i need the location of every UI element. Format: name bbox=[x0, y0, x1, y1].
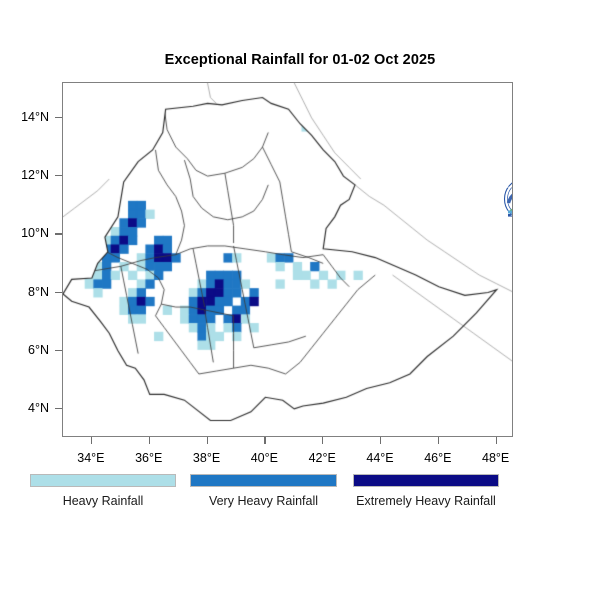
y-tick-mark bbox=[55, 292, 62, 293]
y-axis-tick-label: 6°N bbox=[0, 343, 49, 357]
legend-color-swatch bbox=[30, 474, 176, 487]
rainfall-raster-canvas bbox=[63, 83, 513, 437]
x-tick-mark bbox=[380, 437, 381, 444]
y-axis-tick-label: 14°N bbox=[0, 110, 49, 124]
legend-label: Extremely Heavy Rainfall bbox=[353, 494, 499, 508]
svg-text:ETHIOPIAN METEOROLOGY: ETHIOPIAN METEOROLOGY bbox=[507, 185, 513, 189]
legend-entry: Heavy Rainfall bbox=[30, 474, 176, 508]
x-axis-tick-label: 40°E bbox=[251, 451, 278, 465]
y-axis-tick-label: 10°N bbox=[0, 226, 49, 240]
y-tick-mark bbox=[55, 350, 62, 351]
x-axis-tick-label: 46°E bbox=[424, 451, 451, 465]
svg-text:Ethiopian Meteorology Institut: Ethiopian Meteorology Institute bbox=[511, 214, 513, 217]
y-tick-mark bbox=[55, 117, 62, 118]
x-axis-tick-label: 34°E bbox=[77, 451, 104, 465]
y-tick-mark bbox=[55, 408, 62, 409]
x-tick-mark bbox=[149, 437, 150, 444]
rainfall-legend: Heavy RainfallVery Heavy RainfallExtreme… bbox=[0, 474, 600, 520]
legend-entry: Very Heavy Rainfall bbox=[190, 474, 337, 508]
y-axis-tick-label: 12°N bbox=[0, 168, 49, 182]
x-tick-mark bbox=[264, 437, 265, 444]
x-axis-tick-label: 42°E bbox=[309, 451, 336, 465]
x-axis-tick-label: 36°E bbox=[135, 451, 162, 465]
legend-entry: Extremely Heavy Rainfall bbox=[353, 474, 499, 508]
x-tick-mark bbox=[322, 437, 323, 444]
map-plot-area: ETHIOPIAN METEOROLOGY Ethiopian Meteorol… bbox=[62, 82, 513, 437]
y-tick-mark bbox=[55, 233, 62, 234]
rainfall-map-figure: Exceptional Rainfall for 01-02 Oct 2025 … bbox=[0, 0, 600, 600]
x-tick-mark bbox=[496, 437, 497, 444]
y-axis-tick-label: 8°N bbox=[0, 285, 49, 299]
x-tick-mark bbox=[438, 437, 439, 444]
x-axis-tick-label: 38°E bbox=[193, 451, 220, 465]
x-axis-tick-label: 48°E bbox=[482, 451, 509, 465]
x-tick-mark bbox=[207, 437, 208, 444]
ethiopian-meteorology-institute-logo: ETHIOPIAN METEOROLOGY Ethiopian Meteorol… bbox=[499, 177, 513, 225]
legend-label: Very Heavy Rainfall bbox=[190, 494, 337, 508]
y-tick-mark bbox=[55, 175, 62, 176]
y-axis-tick-label: 4°N bbox=[0, 401, 49, 415]
page-title: Exceptional Rainfall for 01-02 Oct 2025 bbox=[0, 52, 600, 68]
x-axis-tick-label: 44°E bbox=[366, 451, 393, 465]
x-tick-mark bbox=[91, 437, 92, 444]
legend-label: Heavy Rainfall bbox=[30, 494, 176, 508]
legend-color-swatch bbox=[190, 474, 337, 487]
legend-color-swatch bbox=[353, 474, 499, 487]
